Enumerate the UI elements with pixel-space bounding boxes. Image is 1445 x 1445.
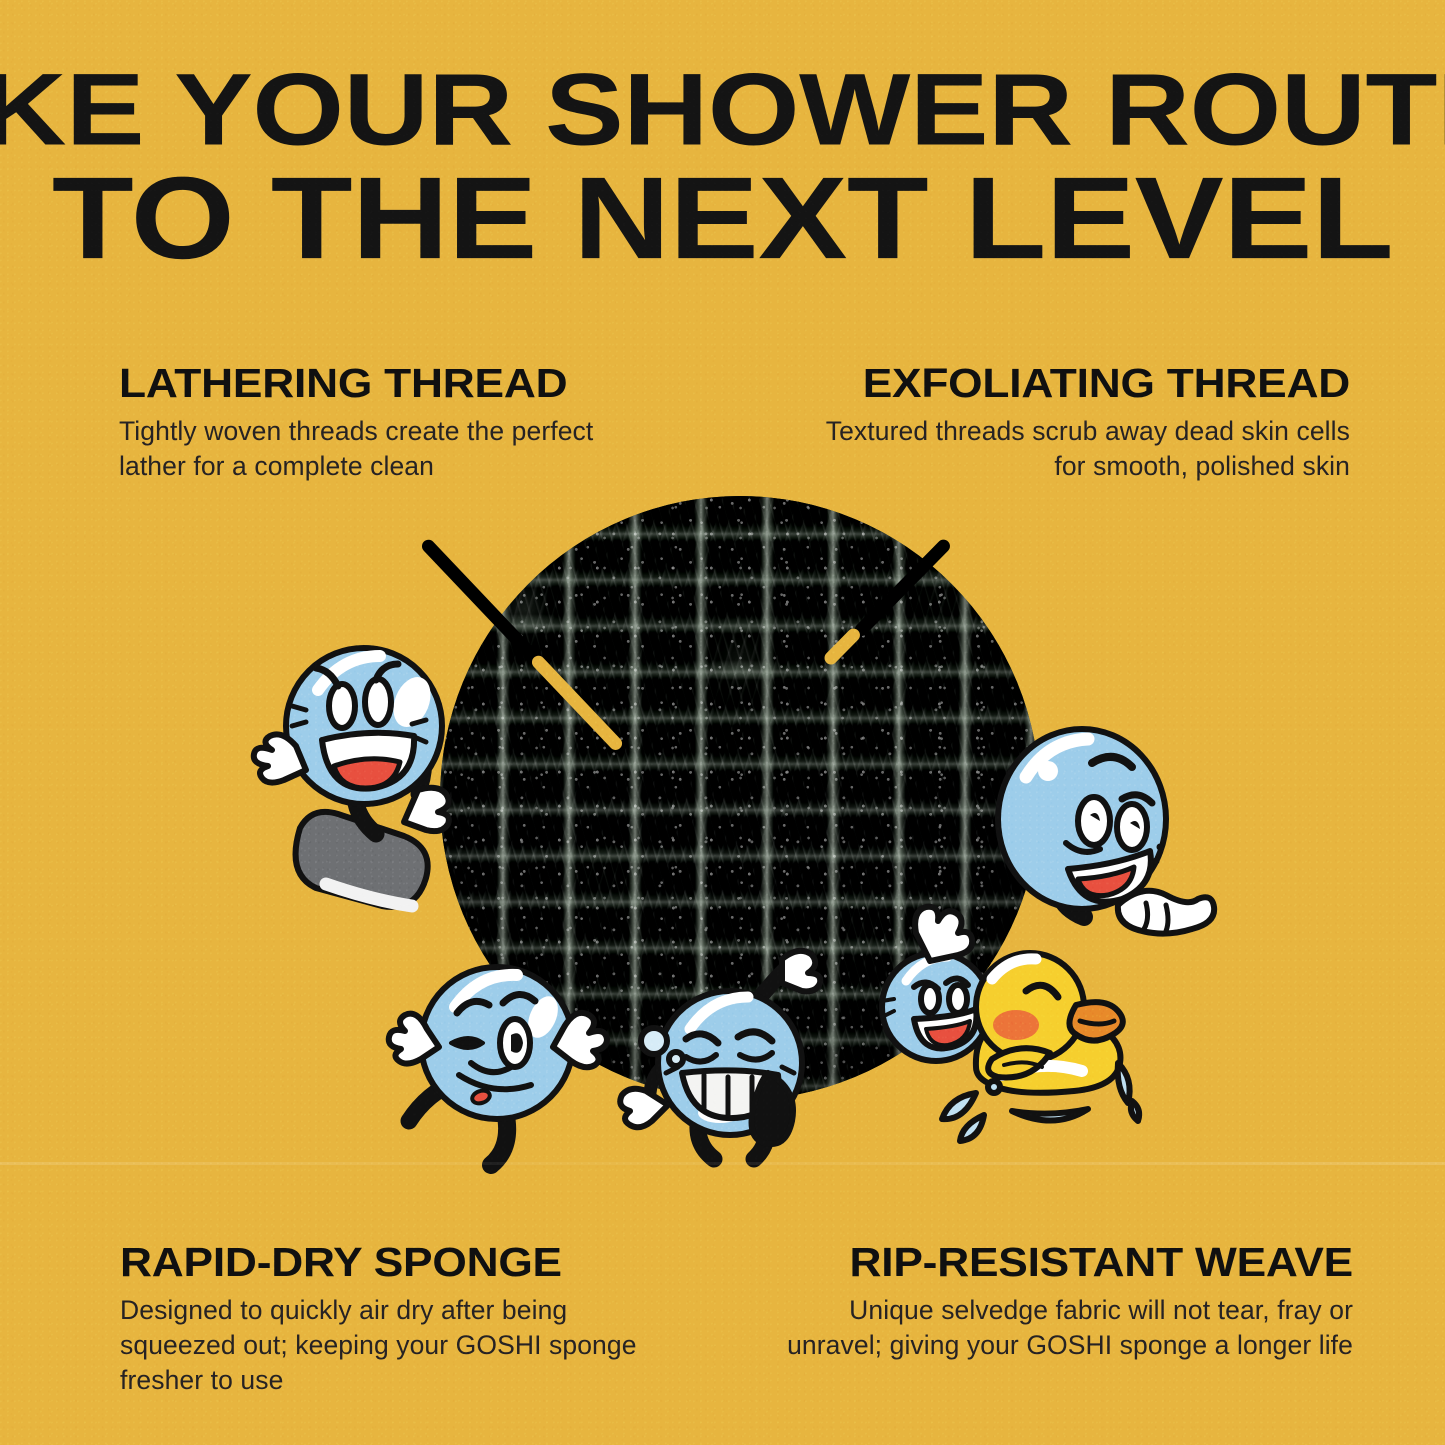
feature-title-rapid-dry: RAPID-DRY SPONGE xyxy=(120,1242,682,1283)
bubble-character-with-rubber-duck xyxy=(880,895,1150,1145)
feature-rapid-dry-sponge: RAPID-DRY SPONGE Designed to quickly air… xyxy=(120,1242,640,1399)
feature-rip-resistant-weave: RIP-RESISTANT WEAVE Unique selvedge fabr… xyxy=(773,1242,1353,1363)
feature-body-exfoliating: Textured threads scrub away dead skin ce… xyxy=(790,414,1350,484)
headline: TAKE YOUR SHOWER ROUTINE TO THE NEXT LEV… xyxy=(0,62,1445,266)
headline-line-1: TAKE YOUR SHOWER ROUTINE xyxy=(0,62,1445,160)
feature-body-lathering: Tightly woven threads create the perfect… xyxy=(119,414,639,484)
feature-body-rapid-dry: Designed to quickly air dry after being … xyxy=(120,1293,640,1399)
feature-title-lathering: LATHERING THREAD xyxy=(119,363,681,404)
bubble-character-with-soap-bar xyxy=(252,614,482,914)
feature-title-rip-resistant: RIP-RESISTANT WEAVE xyxy=(727,1242,1353,1283)
feature-lathering-thread: LATHERING THREAD Tightly woven threads c… xyxy=(119,363,639,484)
headline-line-2: TO THE NEXT LEVEL xyxy=(0,162,1445,274)
bubble-character-dancing xyxy=(385,925,610,1165)
feature-body-rip-resistant: Unique selvedge fabric will not tear, fr… xyxy=(773,1293,1353,1363)
poster-canvas: TAKE YOUR SHOWER ROUTINE TO THE NEXT LEV… xyxy=(0,0,1445,1445)
bubble-character-grinning xyxy=(618,955,838,1165)
feature-exfoliating-thread: EXFOLIATING THREAD Textured threads scru… xyxy=(790,363,1350,484)
feature-title-exfoliating: EXFOLIATING THREAD xyxy=(745,363,1350,404)
